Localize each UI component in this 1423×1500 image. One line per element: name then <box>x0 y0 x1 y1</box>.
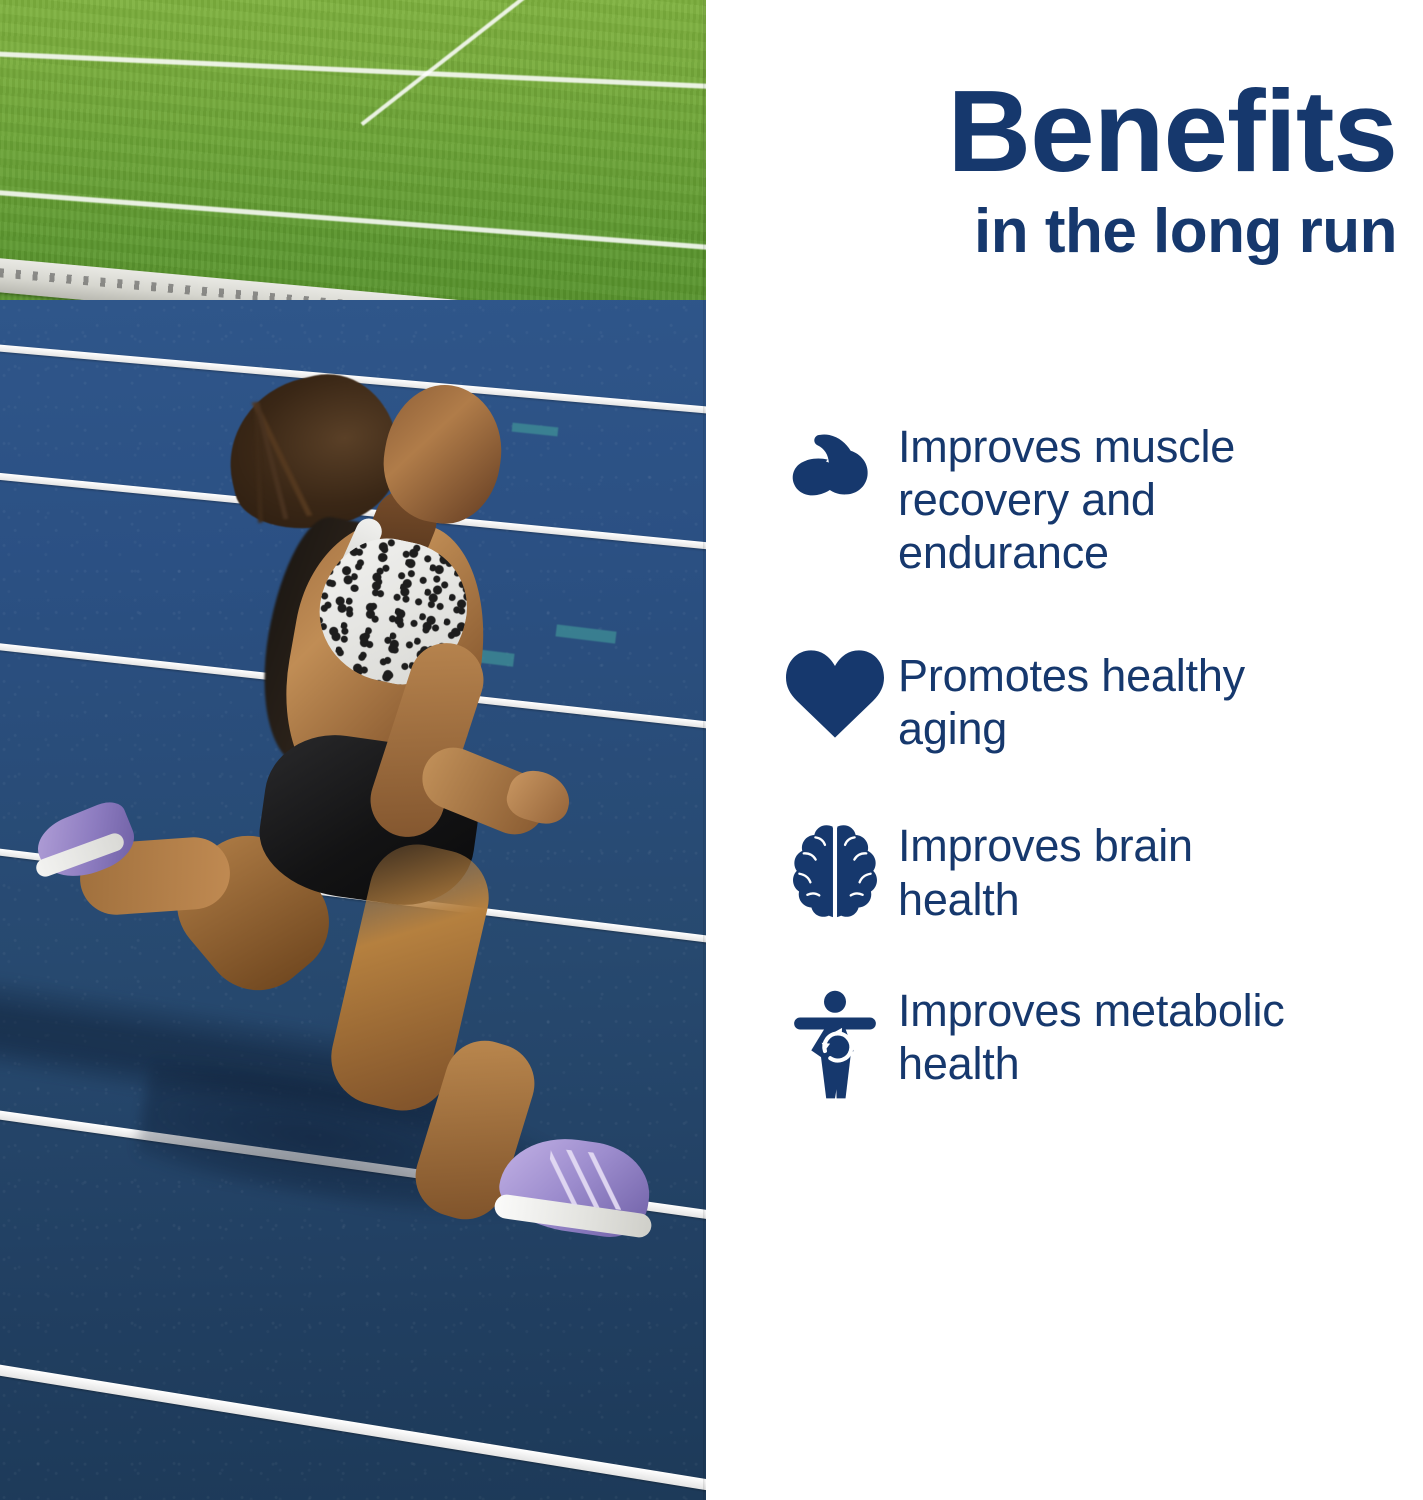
benefits-poster: Benefits in the long run Improves muscle… <box>0 0 1423 1500</box>
benefit-item-muscle: Improves muscle recovery and endurance <box>772 420 1423 579</box>
benefit-item-brain: Improves brain health <box>772 819 1423 925</box>
benefit-label: Improves metabolic health <box>898 984 1285 1090</box>
benefits-list: Improves muscle recovery and endurance P… <box>772 420 1423 1164</box>
metabolism-body-icon <box>772 984 898 1100</box>
benefit-item-aging: Promotes healthy aging <box>772 643 1423 755</box>
heart-icon <box>772 643 898 739</box>
title-main: Benefits <box>714 72 1397 190</box>
flexed-bicep-icon <box>772 420 898 518</box>
benefit-label: Promotes healthy aging <box>898 643 1245 755</box>
runner-photo <box>0 0 706 1500</box>
benefit-label: Improves brain health <box>898 819 1193 925</box>
page-title: Benefits in the long run <box>714 72 1397 268</box>
runner-figure <box>0 0 706 1500</box>
content-pane: Benefits in the long run Improves muscle… <box>706 0 1423 1500</box>
benefit-item-metabolic: Improves metabolic health <box>772 984 1423 1100</box>
title-sub: in the long run <box>714 196 1397 267</box>
brain-icon <box>772 819 898 921</box>
benefit-label: Improves muscle recovery and endurance <box>898 420 1235 579</box>
